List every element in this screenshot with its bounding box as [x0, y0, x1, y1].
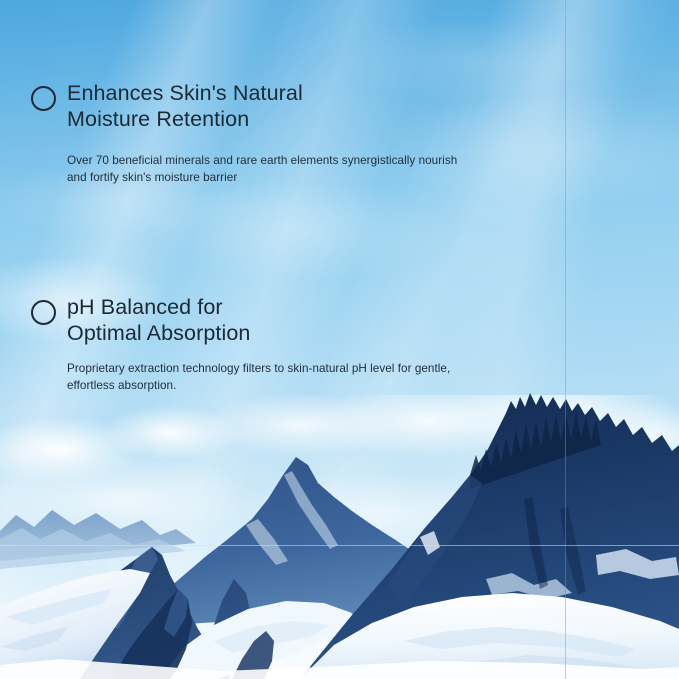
feature-title: Enhances Skin's Natural Moisture Retenti… — [67, 80, 547, 132]
feature-title: pH Balanced for Optimal Absorption — [67, 294, 547, 346]
feature-description: Over 70 beneficial minerals and rare ear… — [67, 153, 547, 186]
circle-outline-icon — [31, 300, 56, 325]
feature-description: Proprietary extraction technology filter… — [67, 361, 547, 394]
feature-list: Enhances Skin's Natural Moisture Retenti… — [0, 0, 679, 679]
circle-outline-icon — [31, 86, 56, 111]
product-feature-poster: Enhances Skin's Natural Moisture Retenti… — [0, 0, 679, 679]
